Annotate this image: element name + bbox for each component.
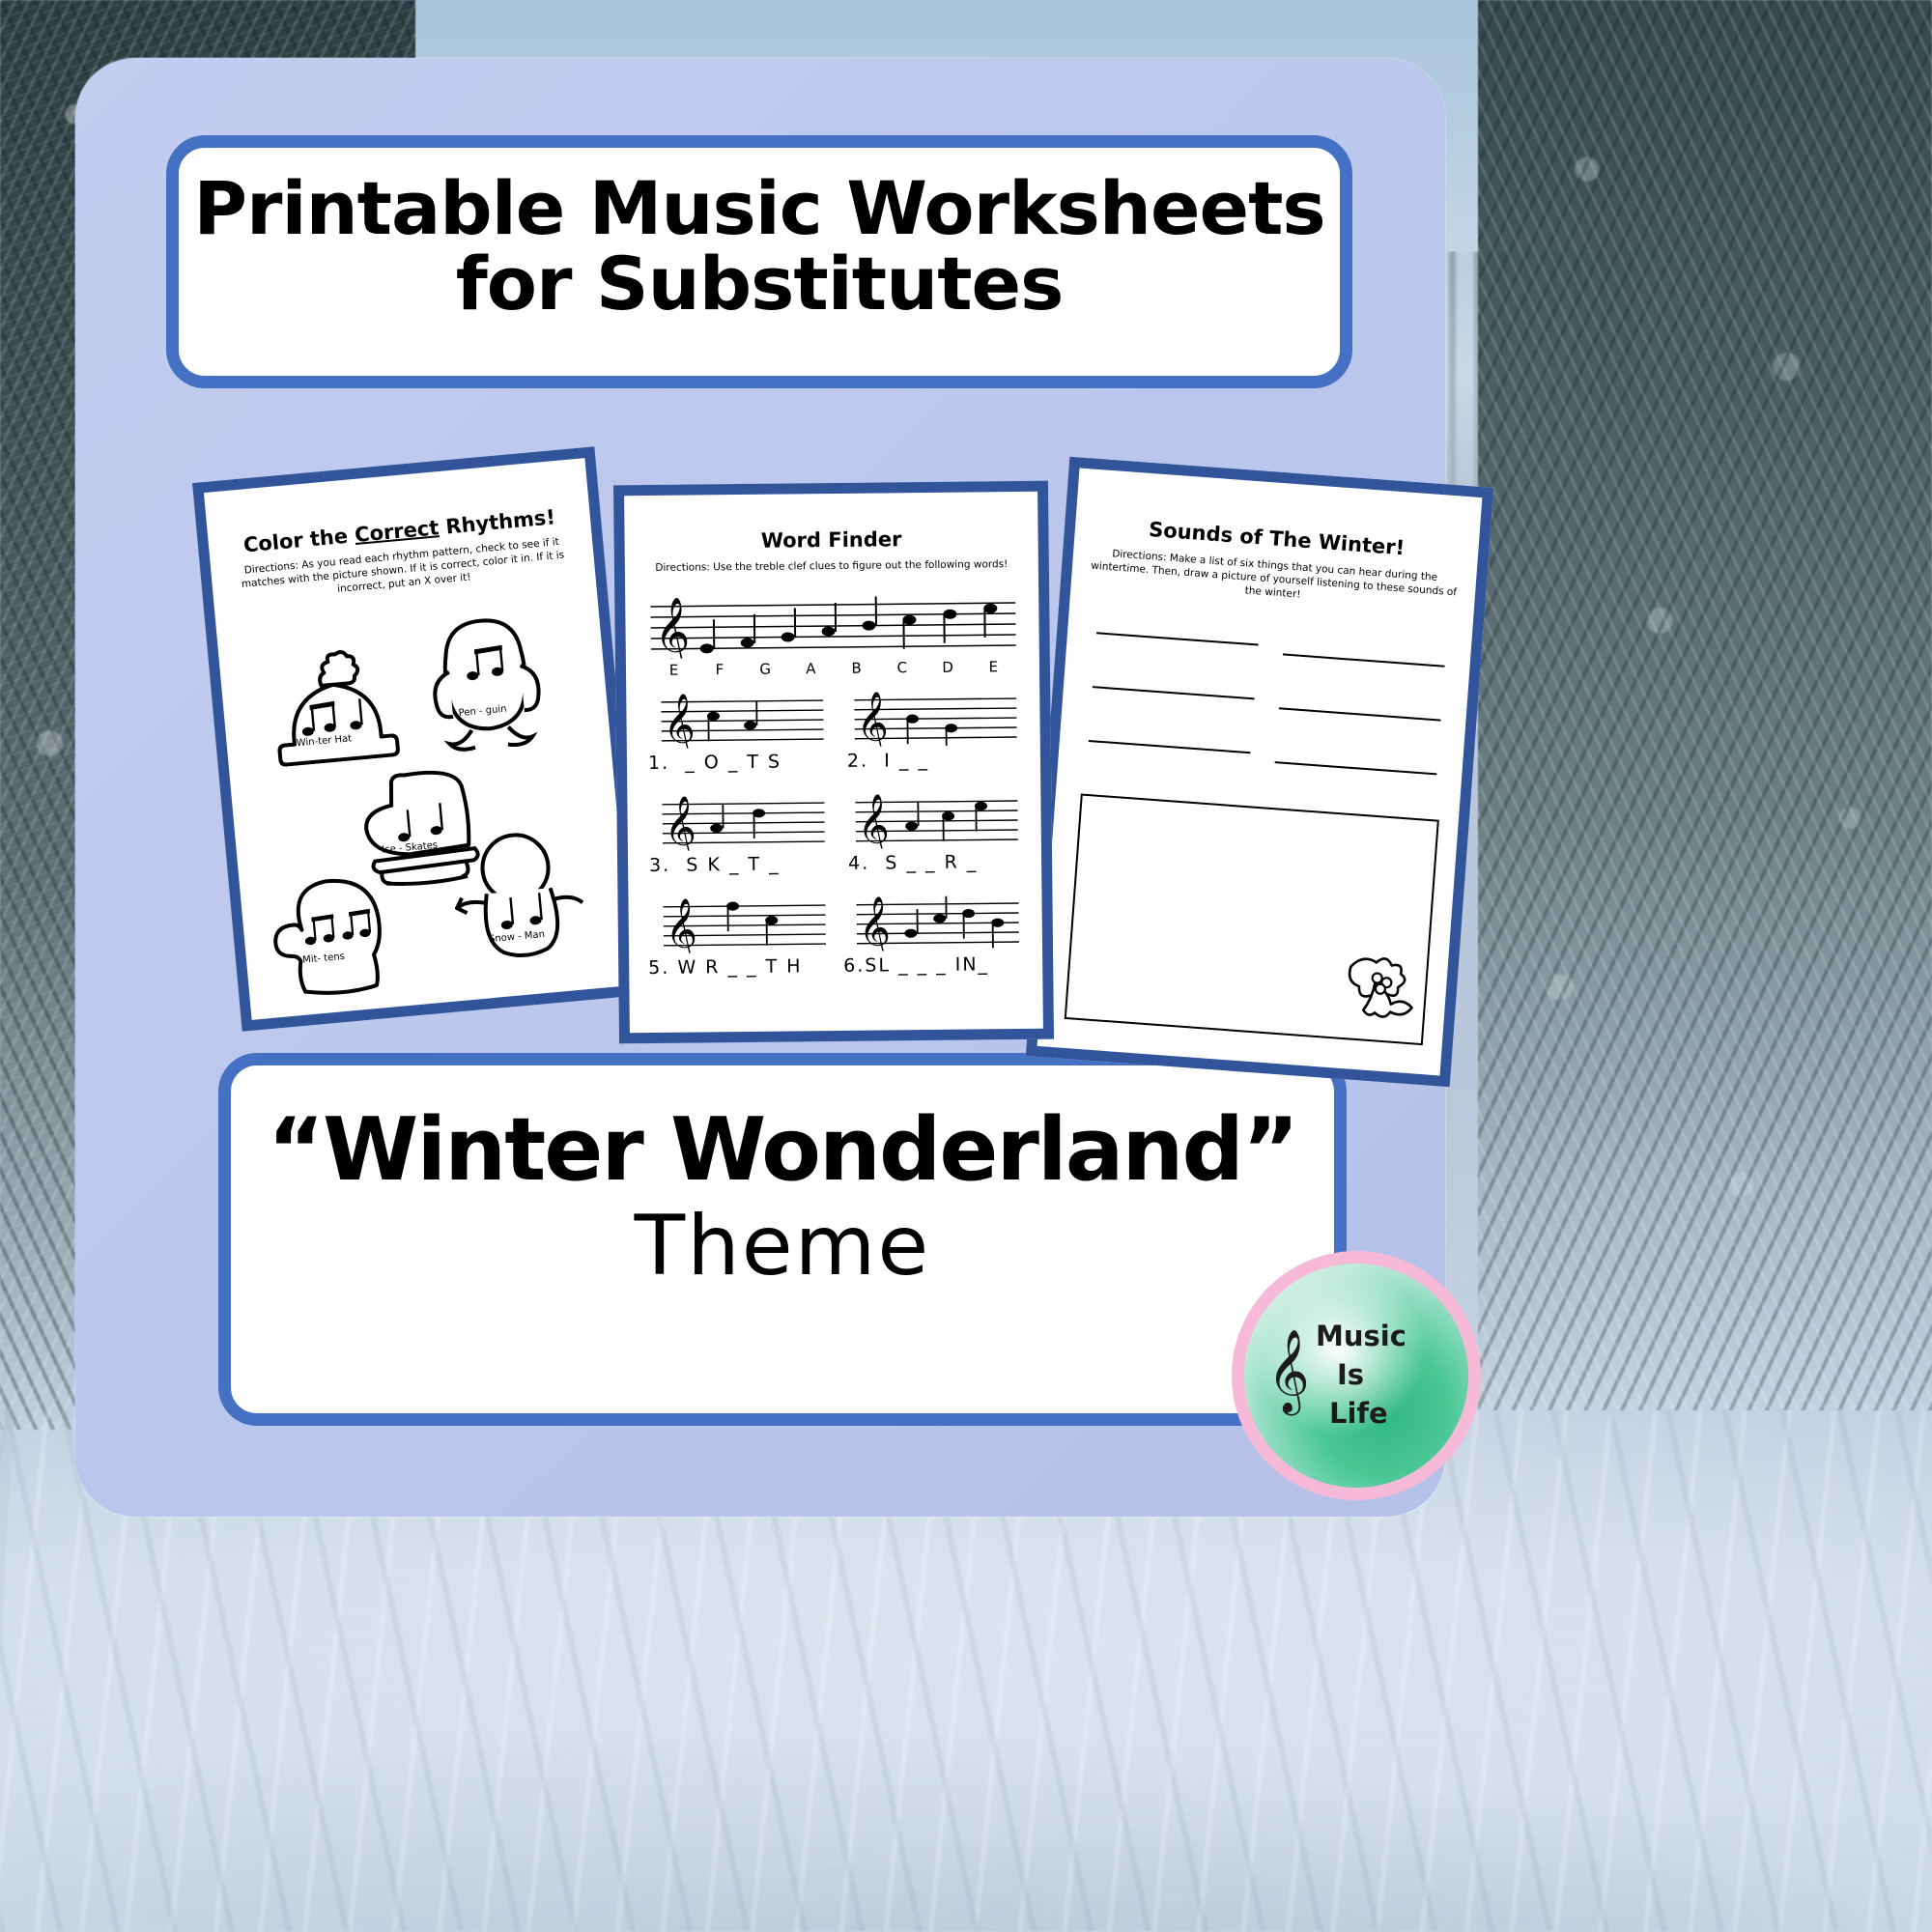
treble-clef-icon: 𝄞 — [1267, 1335, 1310, 1406]
key-letter-7: E — [971, 658, 1016, 675]
logo-word-music: Music — [1316, 1320, 1406, 1352]
key-letter-0: E — [651, 661, 696, 678]
winter-hat-figure: Win-ter Hat — [257, 639, 412, 768]
word-finder-answer-5: 5. W R _ _ T H — [648, 955, 803, 979]
key-letter-6: D — [924, 659, 970, 676]
word-finder-item-6: 𝄞 — [856, 895, 1019, 956]
worksheet2-directions: Directions: Use the treble clef clues to… — [625, 558, 1038, 576]
word-finder-item-5: 𝄞 — [663, 897, 826, 958]
word-finder-item-2: 𝄞 — [854, 691, 1017, 752]
key-letter-3: A — [788, 660, 834, 677]
word-finder-answer-3: 3. S K _ T _ — [649, 854, 781, 876]
right-snowy-forest — [1478, 0, 1932, 1410]
answer-line-6[interactable] — [1275, 761, 1437, 775]
title-panel: Printable Music Worksheets for Substitut… — [166, 135, 1352, 388]
svg-text:𝄞: 𝄞 — [856, 691, 889, 746]
word-finder-key-staff: 𝄞 — [650, 593, 1016, 664]
answer-line-5[interactable] — [1089, 740, 1251, 753]
svg-text:𝄞: 𝄞 — [654, 596, 690, 659]
svg-text:𝄞: 𝄞 — [858, 895, 891, 951]
word-finder-item-4: 𝄞 — [855, 793, 1018, 854]
svg-text:𝄞: 𝄞 — [665, 897, 697, 952]
logo-word-is: Is — [1337, 1358, 1364, 1391]
word-finder-answer-4: 4. S _ _ R _ — [848, 851, 978, 873]
key-letter-2: G — [742, 660, 787, 677]
product-cover-card: Printable Music Worksheets for Substitut… — [75, 58, 1445, 1517]
word-finder-answer-1: 1. _ O _ T S — [648, 752, 781, 774]
word-finder-item-1: 𝄞 — [661, 693, 824, 753]
page-title-line2: for Substitutes — [179, 246, 1340, 322]
answer-line-4[interactable] — [1279, 707, 1441, 721]
worksheet-word-finder[interactable]: Word Finder Directions: Use the treble c… — [613, 481, 1054, 1044]
answer-line-1[interactable] — [1096, 632, 1259, 645]
worksheet-sounds-of-the-winter[interactable]: Sounds of The Winter! Directions: Make a… — [1026, 457, 1493, 1088]
word-finder-answer-6: 6.SL _ _ _ IN_ — [843, 953, 989, 977]
theme-line1: “Winter Wonderland” — [231, 1106, 1334, 1195]
theme-panel: “Winter Wonderland” Theme — [218, 1053, 1347, 1426]
key-letter-4: B — [834, 660, 879, 677]
word-finder-answer-2: 2. I _ _ — [847, 750, 929, 772]
svg-text:𝄞: 𝄞 — [663, 694, 696, 749]
logo-word-life: Life — [1329, 1397, 1388, 1430]
svg-text:𝄞: 𝄞 — [857, 793, 890, 848]
snowman-figure: Snow - Man — [442, 825, 600, 982]
key-letter-5: C — [879, 659, 924, 676]
worksheet2-title: Word Finder — [624, 526, 1037, 554]
svg-text:𝄞: 𝄞 — [664, 795, 696, 850]
theme-line2: Theme — [231, 1205, 1334, 1290]
worksheet-color-the-correct-rhythms[interactable]: Color the Correct Rhythms! Directions: A… — [192, 446, 644, 1032]
holly-leaves-icon — [1329, 932, 1429, 1032]
page-title-line1: Printable Music Worksheets — [179, 171, 1340, 246]
answer-line-2[interactable] — [1283, 653, 1445, 667]
word-finder-item-3: 𝄞 — [662, 795, 825, 856]
penguin-figure: Pen - guin — [417, 608, 556, 773]
mitten-figure: Mit- tens — [262, 864, 409, 1010]
key-letter-1: F — [696, 661, 742, 678]
word-finder-key-letters: E F G A B C D E — [651, 658, 1016, 679]
answer-line-3[interactable] — [1093, 686, 1255, 699]
music-is-life-logo-badge[interactable]: 𝄞 Music Is Life — [1244, 1264, 1468, 1488]
